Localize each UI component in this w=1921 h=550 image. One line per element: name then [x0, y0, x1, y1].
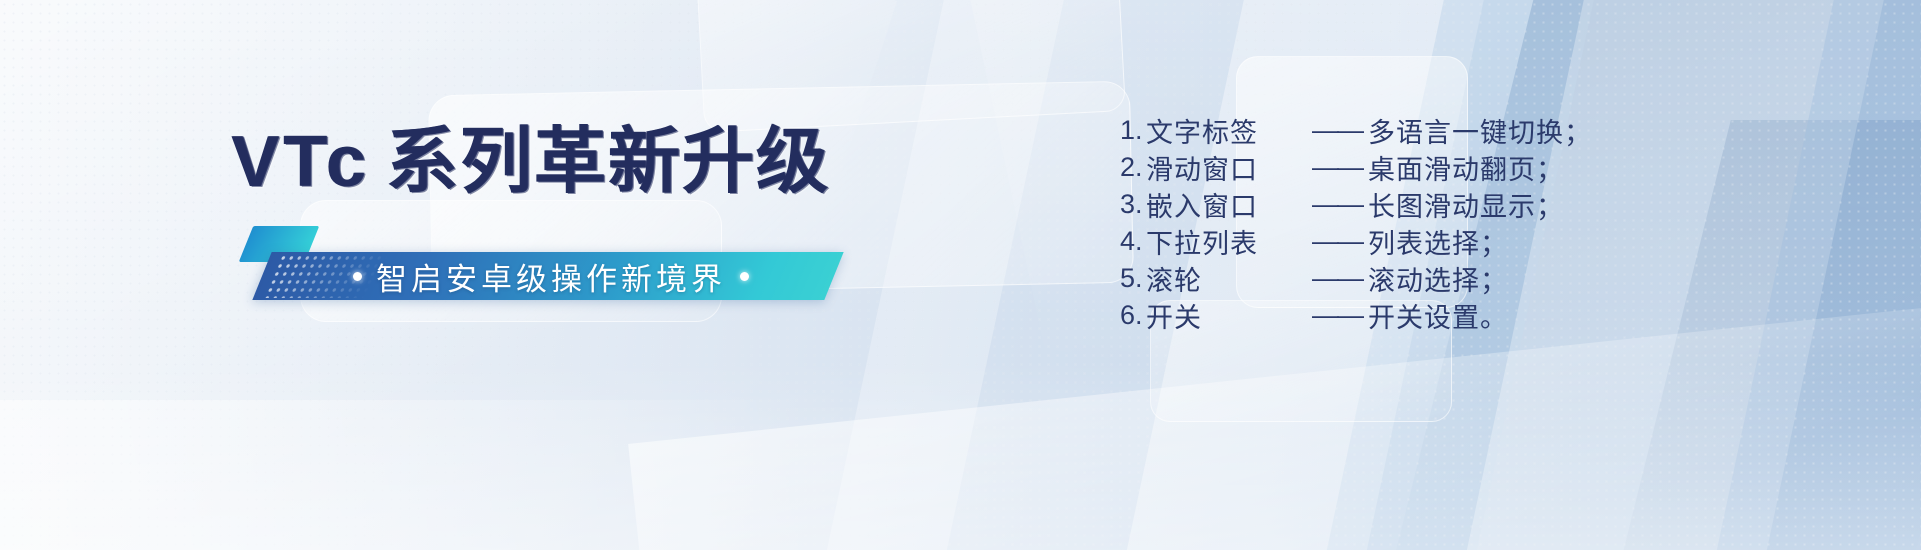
feature-dash: ——: [1306, 189, 1368, 220]
subtitle-badge: 智启安卓级操作新境界: [246, 226, 846, 298]
title-chinese: 系列革新升级: [386, 122, 830, 202]
title-latin: VTc: [231, 122, 370, 202]
list-item: 1. 文字标签 —— 多语言一键切换；: [1120, 112, 1592, 149]
feature-index: 4.: [1120, 226, 1146, 257]
feature-index: 5.: [1120, 263, 1146, 294]
bullet-dot-right-icon: [740, 272, 749, 281]
glass-card-top: [696, 0, 1126, 133]
feature-dash: ——: [1306, 300, 1368, 331]
background-bottom-band-left: [0, 400, 820, 550]
feature-description: 桌面滑动翻页；: [1368, 148, 1564, 187]
feature-list: 1. 文字标签 —— 多语言一键切换； 2. 滑动窗口 —— 桌面滑动翻页； 3…: [1120, 112, 1592, 334]
feature-name: 开关: [1146, 296, 1306, 335]
feature-dash: ——: [1306, 152, 1368, 183]
feature-name: 滑动窗口: [1146, 148, 1306, 187]
feature-description: 列表选择；: [1368, 222, 1508, 261]
background-slab-4: [1689, 0, 1921, 550]
list-item: 5. 滚轮 —— 滚动选择；: [1120, 260, 1592, 297]
bullet-dot-left-icon: [353, 272, 362, 281]
feature-dash: ——: [1306, 226, 1368, 257]
feature-description: 开关设置。: [1368, 296, 1508, 335]
list-item: 2. 滑动窗口 —— 桌面滑动翻页；: [1120, 149, 1592, 186]
feature-index: 1.: [1120, 115, 1146, 146]
feature-name: 滚轮: [1146, 259, 1306, 298]
feature-index: 2.: [1120, 152, 1146, 183]
list-item: 4. 下拉列表 —— 列表选择；: [1120, 223, 1592, 260]
promo-banner: VTc系列革新升级 智启安卓级操作新境界 1. 文字标签 —— 多语言一键切换；…: [0, 0, 1921, 550]
background-diagonal-highlight: [628, 298, 1921, 550]
feature-name: 下拉列表: [1146, 222, 1306, 261]
list-item: 6. 开关 —— 开关设置。: [1120, 297, 1592, 334]
feature-dash: ——: [1306, 115, 1368, 146]
feature-description: 多语言一键切换；: [1368, 111, 1592, 150]
list-item: 3. 嵌入窗口 —— 长图滑动显示；: [1120, 186, 1592, 223]
feature-description: 滚动选择；: [1368, 259, 1508, 298]
feature-dash: ——: [1306, 263, 1368, 294]
badge-text: 智启安卓级操作新境界: [268, 252, 834, 300]
page-title: VTc系列革新升级: [231, 126, 830, 198]
feature-name: 文字标签: [1146, 111, 1306, 150]
background-bottom-band: [0, 360, 1921, 550]
feature-description: 长图滑动显示；: [1368, 185, 1564, 224]
feature-name: 嵌入窗口: [1146, 185, 1306, 224]
feature-index: 6.: [1120, 300, 1146, 331]
background-wedge-right-lower: [1591, 120, 1921, 550]
badge-label: 智启安卓级操作新境界: [376, 254, 726, 299]
feature-index: 3.: [1120, 189, 1146, 220]
